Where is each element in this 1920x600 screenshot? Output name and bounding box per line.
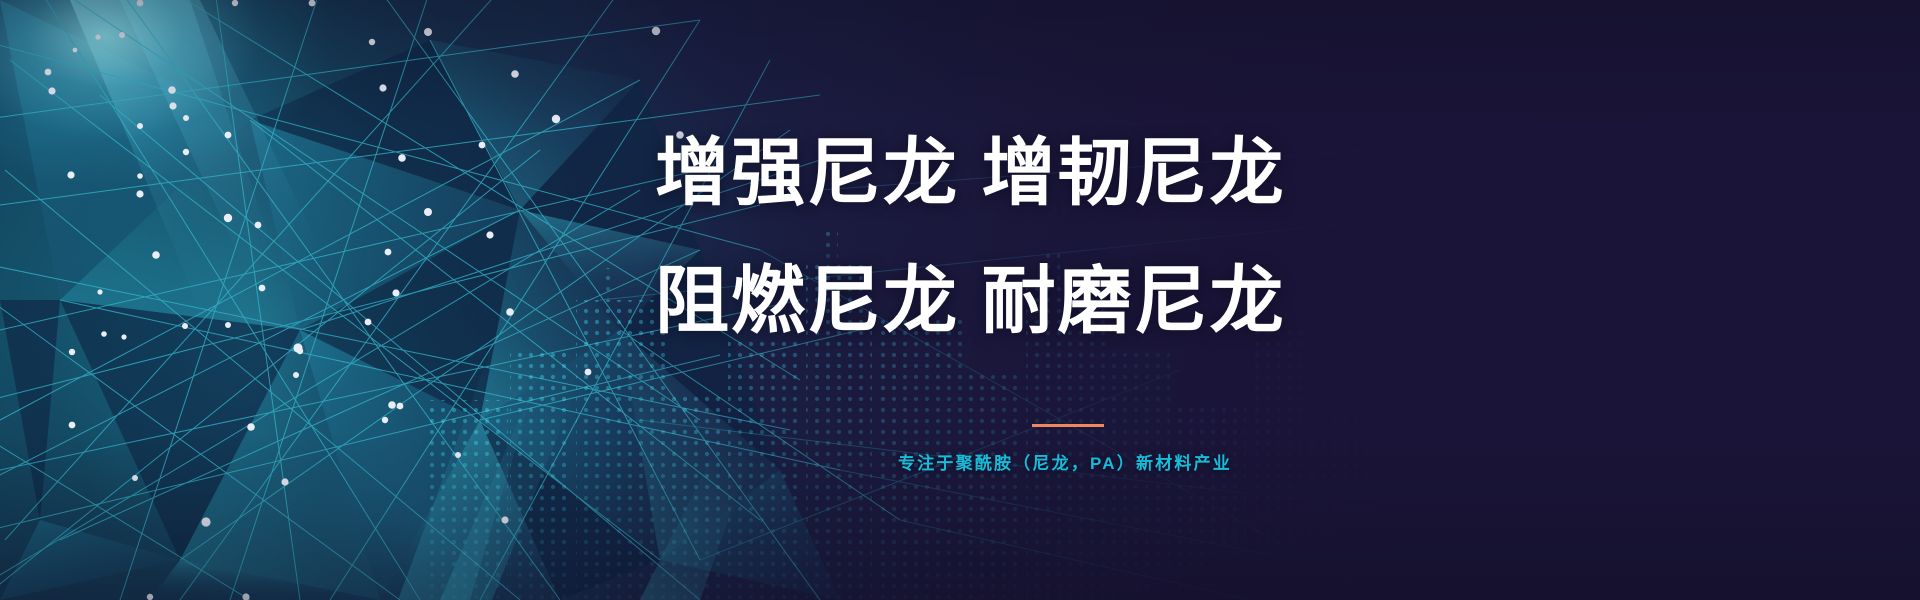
banner-headline: 增强尼龙 增韧尼龙 阻燃尼龙 耐磨尼龙 [655,118,1475,355]
tagline-block: 专注于聚酰胺（尼龙，PA）新材料产业 [655,424,1475,474]
tagline-divider-rule [1032,424,1104,427]
banner-content: 增强尼龙 增韧尼龙 阻燃尼龙 耐磨尼龙 专注于聚酰胺（尼龙，PA）新材料产业 [655,0,1475,600]
hero-banner: 增强尼龙 增韧尼龙 阻燃尼龙 耐磨尼龙 专注于聚酰胺（尼龙，PA）新材料产业 [0,0,1920,600]
banner-tagline: 专注于聚酰胺（尼龙，PA）新材料产业 [655,449,1475,474]
headline-line-1: 增强尼龙 增韧尼龙 [655,118,1475,228]
headline-line-2: 阻燃尼龙 耐磨尼龙 [655,246,1475,356]
